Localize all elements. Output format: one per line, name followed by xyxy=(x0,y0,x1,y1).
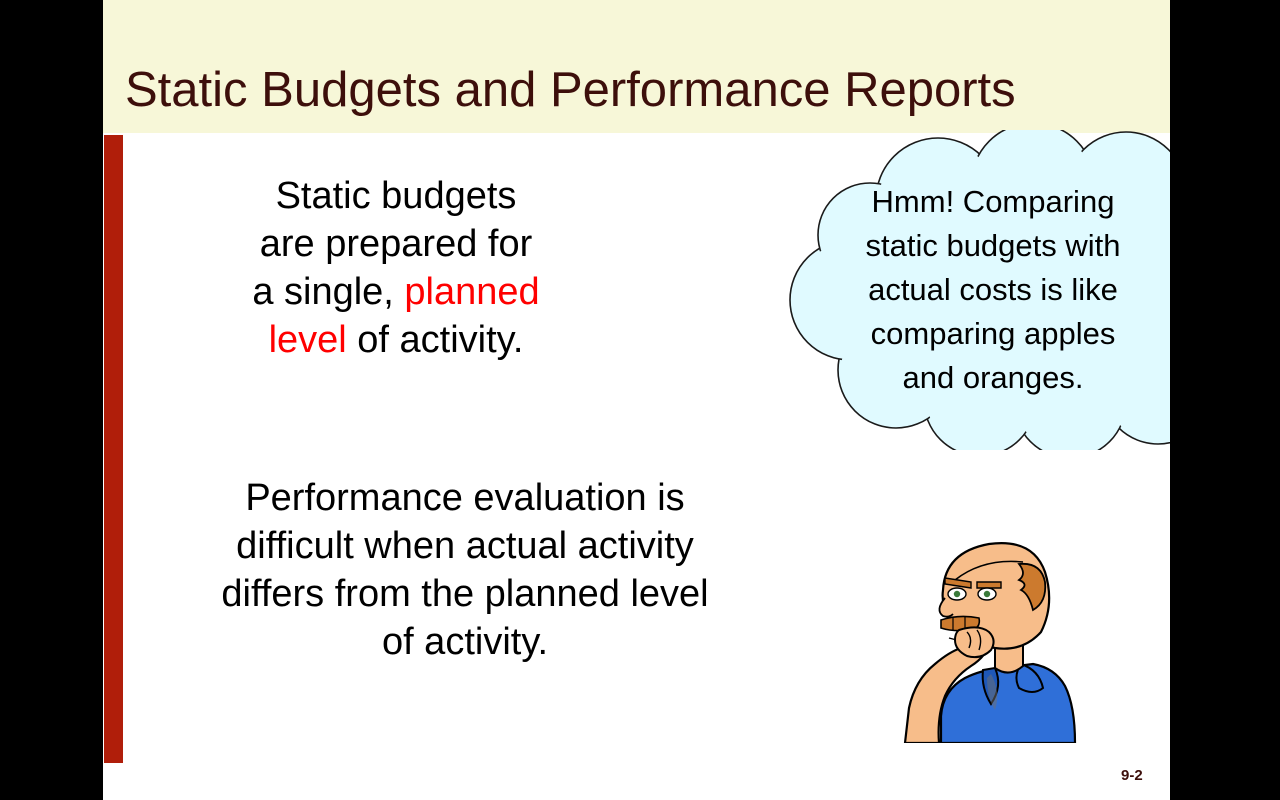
accent-bar xyxy=(104,135,123,763)
slide-page-number: 9-2 xyxy=(1121,767,1143,784)
bubble-line-1: Hmm! Comparing xyxy=(865,180,1120,224)
perf-line-1: Performance evaluation is xyxy=(165,474,765,522)
thought-bubble-text: Hmm! Comparing static budgets with actua… xyxy=(758,130,1170,450)
highlight-level: level xyxy=(269,319,347,361)
presentation-slide: Static Budgets and Performance Reports S… xyxy=(103,0,1170,800)
letterbox-right xyxy=(1170,0,1280,800)
letterbox-left xyxy=(0,0,103,800)
bubble-line-3: actual costs is like xyxy=(865,268,1120,312)
perf-line-4: of activity. xyxy=(165,618,765,666)
statement-line-3: a single, planned xyxy=(161,268,631,316)
static-budget-statement: Static budgets are prepared for a single… xyxy=(161,172,631,364)
highlight-planned: planned xyxy=(404,271,539,313)
statement-line-2: are prepared for xyxy=(161,220,631,268)
bubble-line-5: and oranges. xyxy=(865,356,1120,400)
perf-line-3: differs from the planned level xyxy=(165,570,765,618)
performance-evaluation-statement: Performance evaluation is difficult when… xyxy=(165,474,765,666)
thinking-businessman-illustration xyxy=(883,528,1103,743)
title-banner: Static Budgets and Performance Reports xyxy=(103,0,1170,133)
perf-line-2: difficult when actual activity xyxy=(165,522,765,570)
statement-line-4: level of activity. xyxy=(161,316,631,364)
bubble-line-4: comparing apples xyxy=(865,312,1120,356)
statement-line-1: Static budgets xyxy=(161,172,631,220)
bubble-line-2: static budgets with xyxy=(865,224,1120,268)
slide-stage: Static Budgets and Performance Reports S… xyxy=(0,0,1280,800)
page-title: Static Budgets and Performance Reports xyxy=(125,62,1016,118)
statement-line-4-text: of activity. xyxy=(347,319,524,361)
statement-line-3-text: a single, xyxy=(252,271,404,313)
